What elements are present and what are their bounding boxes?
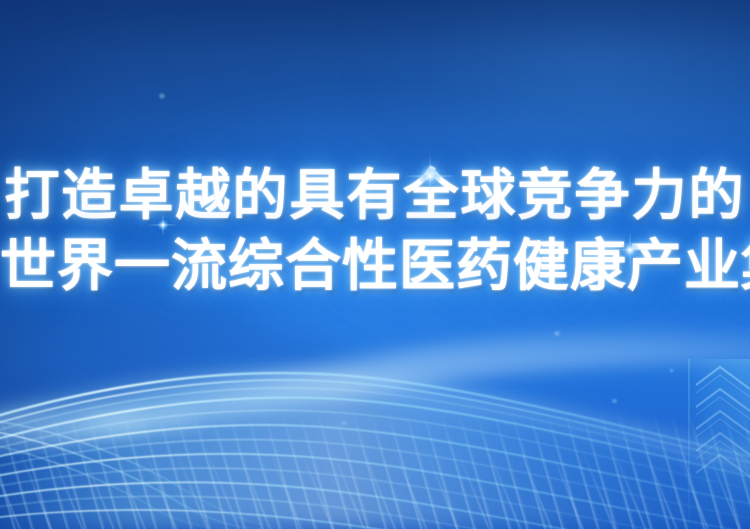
sparkle-dot [158,92,166,100]
sparkle-dot [668,368,675,373]
headline-block: 打造卓越的具有全球竞争力的 世界一流综合性医药健康产业集团 [0,168,750,295]
chevron-column-graphic [662,349,750,529]
diagonal-light-streaks [0,413,750,529]
sparkle-dot [610,398,619,404]
sparkle-dot [338,420,350,426]
bottom-left-shadow-glow [0,296,405,529]
headline-line-2: 世界一流综合性医药健康产业集团 [0,239,750,295]
soft-light-band [0,307,750,455]
top-right-glow [360,0,750,180]
headline-line-1: 打造卓越的具有全球竞争力的 [0,168,750,223]
hero-banner: 打造卓越的具有全球竞争力的 世界一流综合性医药健康产业集团 [0,0,750,529]
sparkle-dot [552,330,562,337]
diagonal-light-streaks-secondary [0,444,750,529]
